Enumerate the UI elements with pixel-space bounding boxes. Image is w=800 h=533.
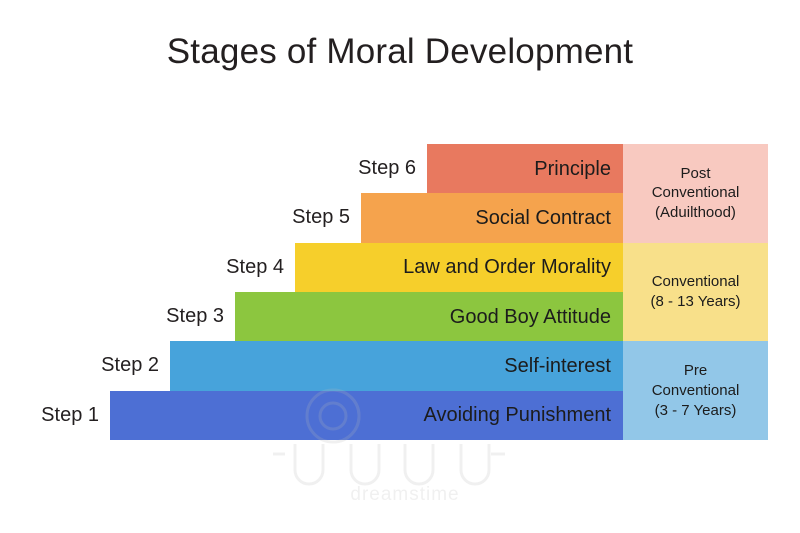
step-bar-label-4: Law and Order Morality xyxy=(403,257,623,277)
step-bar-label-6: Principle xyxy=(534,159,623,179)
category-line-2: Conventional xyxy=(652,183,740,203)
step-bar-1[interactable]: Avoiding Punishment xyxy=(110,391,623,440)
step-bar-5[interactable]: Social Contract xyxy=(361,193,623,242)
moral-development-infographic: Stages of Moral Development Step 6 Princ… xyxy=(0,0,800,533)
step-bar-label-5: Social Contract xyxy=(475,208,623,228)
step-caption-2: Step 2 xyxy=(43,341,170,390)
category-line-2: Conventional xyxy=(652,381,740,401)
svg-text:dreamstime: dreamstime xyxy=(350,484,459,505)
category-line-1: Post xyxy=(652,164,740,184)
category-block-post-conventional[interactable]: Post Conventional (Aduilthood) xyxy=(623,144,768,243)
step-bar-label-1: Avoiding Punishment xyxy=(423,405,623,425)
step-caption-5: Step 5 xyxy=(234,193,361,242)
step-bar-3[interactable]: Good Boy Attitude xyxy=(235,292,623,341)
step-bar-label-2: Self-interest xyxy=(504,356,623,376)
category-text-conventional: Conventional (8 - 13 Years) xyxy=(644,272,746,312)
step-bar-4[interactable]: Law and Order Morality xyxy=(295,243,623,292)
category-line-1: Conventional xyxy=(650,272,740,292)
step-caption-6: Step 6 xyxy=(300,144,427,193)
step-caption-4: Step 4 xyxy=(168,243,295,292)
category-block-pre-conventional[interactable]: Pre Conventional (3 - 7 Years) xyxy=(623,341,768,440)
category-text-pre-conventional: Pre Conventional (3 - 7 Years) xyxy=(646,361,746,420)
step-caption-1: Step 1 xyxy=(0,391,110,440)
step-bar-2[interactable]: Self-interest xyxy=(170,341,623,390)
category-line-3: (3 - 7 Years) xyxy=(652,401,740,421)
category-line-3: (Aduilthood) xyxy=(652,203,740,223)
page-title: Stages of Moral Development xyxy=(0,32,800,72)
category-line-1: Pre xyxy=(652,361,740,381)
category-legend-column: Post Conventional (Aduilthood) Conventio… xyxy=(623,144,768,440)
category-line-2: (8 - 13 Years) xyxy=(650,292,740,312)
step-bar-label-3: Good Boy Attitude xyxy=(450,307,623,327)
step-bar-6[interactable]: Principle xyxy=(427,144,623,193)
step-caption-3: Step 3 xyxy=(108,292,235,341)
category-block-conventional[interactable]: Conventional (8 - 13 Years) xyxy=(623,243,768,342)
category-text-post-conventional: Post Conventional (Aduilthood) xyxy=(646,164,746,223)
